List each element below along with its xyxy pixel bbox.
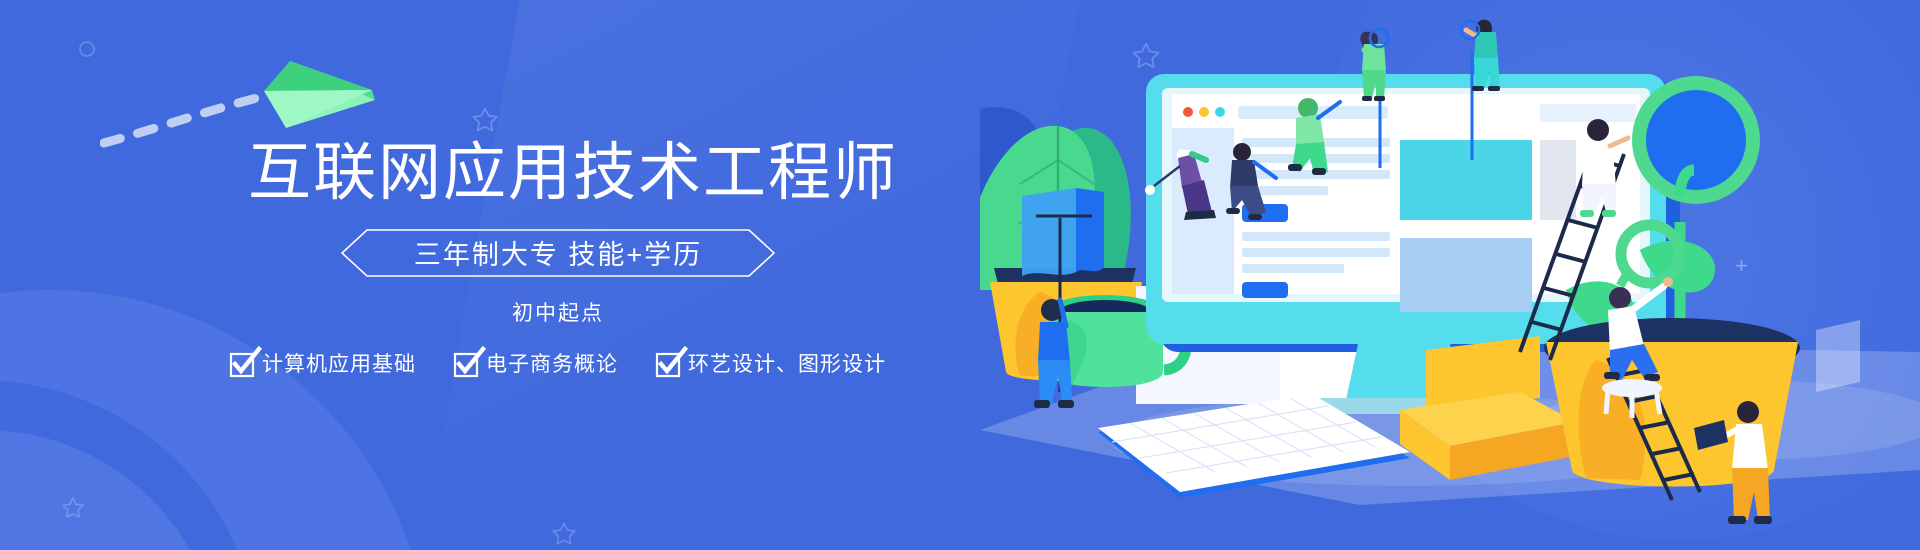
feature-item: 电子商务概论 xyxy=(454,348,618,378)
paper-plane-icon xyxy=(264,61,375,128)
star-outline-icon xyxy=(60,495,86,521)
feature-label: 计算机应用基础 xyxy=(262,348,416,378)
feature-label: 电子商务概论 xyxy=(486,348,618,378)
page-title: 互联网应用技术工程师 xyxy=(248,140,868,207)
origin-label: 初中起点 xyxy=(248,297,868,327)
banner-root: + 互联网应用技术工程师 三年制大专 技能+学历 初中起点 xyxy=(0,0,1920,550)
team-working-on-website-illustration xyxy=(980,0,1920,550)
traffic-light-cyan xyxy=(1215,107,1225,117)
ribbon-banner: 三年制大专 技能+学历 xyxy=(341,229,775,277)
feature-item: 计算机应用基础 xyxy=(230,348,416,378)
traffic-light-red xyxy=(1183,107,1193,117)
white-panel-right xyxy=(1816,320,1860,392)
ribbon-label: 三年制大专 技能+学历 xyxy=(341,229,775,277)
feature-list: 计算机应用基础 电子商务概论 环艺设计、图形 xyxy=(248,348,868,378)
circle-outline-icon xyxy=(78,40,96,58)
primary-button-block xyxy=(1242,282,1288,298)
feature-item: 环艺设计、图形设计 xyxy=(656,348,886,378)
checkbox-checked-icon xyxy=(230,351,253,374)
hero-copy: 互联网应用技术工程师 三年制大专 技能+学历 初中起点 计算机应用基础 xyxy=(248,140,868,378)
traffic-light-yellow xyxy=(1199,107,1209,117)
checkbox-checked-icon xyxy=(454,351,477,374)
checkbox-checked-icon xyxy=(656,351,679,374)
feature-label: 环艺设计、图形设计 xyxy=(688,348,886,378)
star-outline-icon xyxy=(550,520,578,548)
